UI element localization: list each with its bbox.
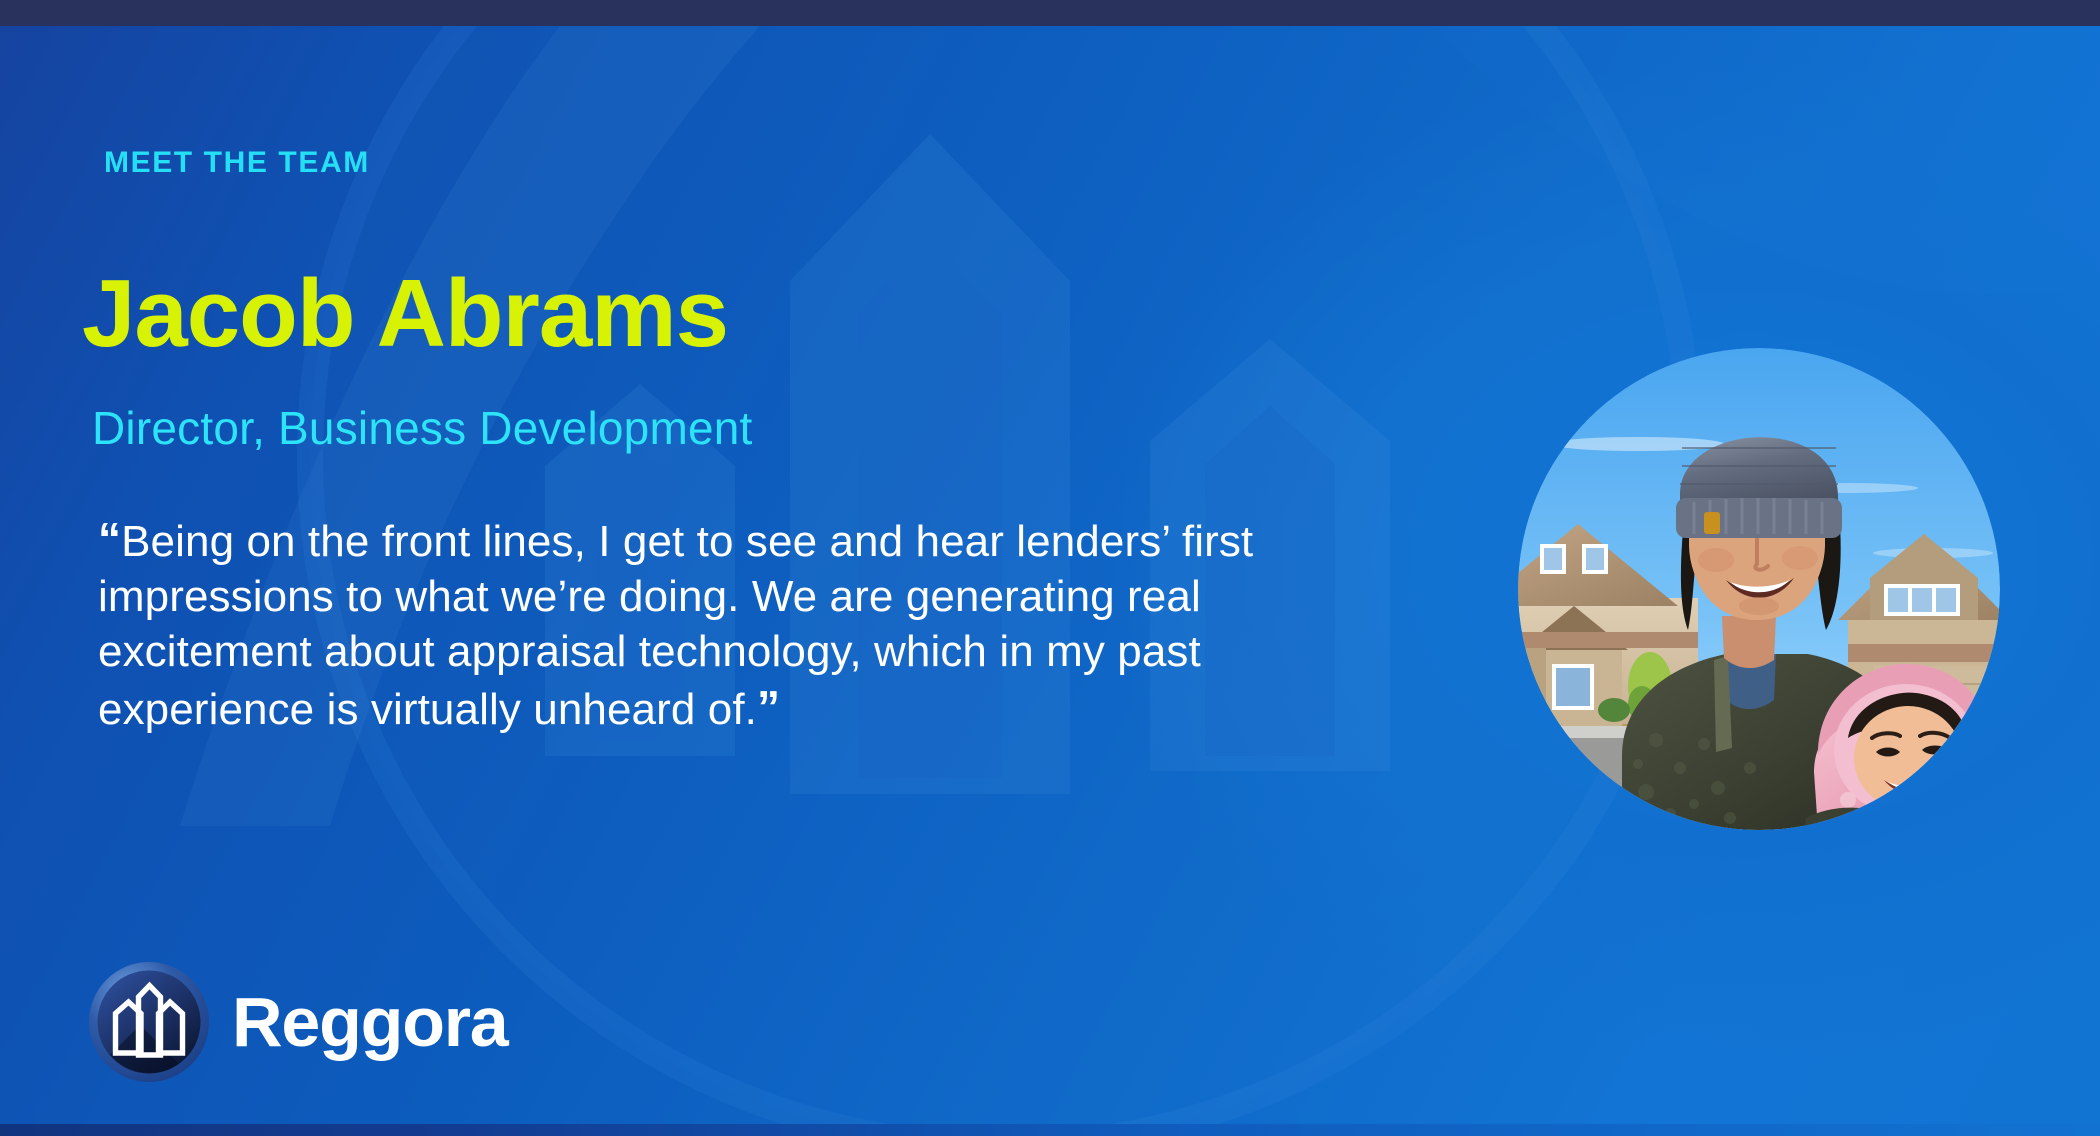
person-role: Director, Business Development xyxy=(92,401,753,455)
eyebrow-label: MEET THE TEAM xyxy=(104,146,370,180)
brand-wordmark: Reggora xyxy=(232,987,508,1057)
top-accent-bar xyxy=(0,0,2100,26)
person-name: Jacob Abrams xyxy=(82,266,728,362)
testimonial-quote: “Being on the front lines, I get to see … xyxy=(98,511,1388,737)
bottom-accent-band xyxy=(0,1124,2100,1136)
open-quote-mark: “ xyxy=(98,513,121,565)
quote-body: Being on the front lines, I get to see a… xyxy=(98,517,1253,734)
close-quote-mark: ” xyxy=(757,681,780,733)
slide-canvas: MEET THE TEAM Jacob Abrams Director, Bus… xyxy=(0,0,2100,1136)
brand-logo-lockup: Reggora xyxy=(88,961,508,1083)
portrait-photo xyxy=(1518,348,2000,830)
reggora-buildings-icon xyxy=(88,961,210,1083)
